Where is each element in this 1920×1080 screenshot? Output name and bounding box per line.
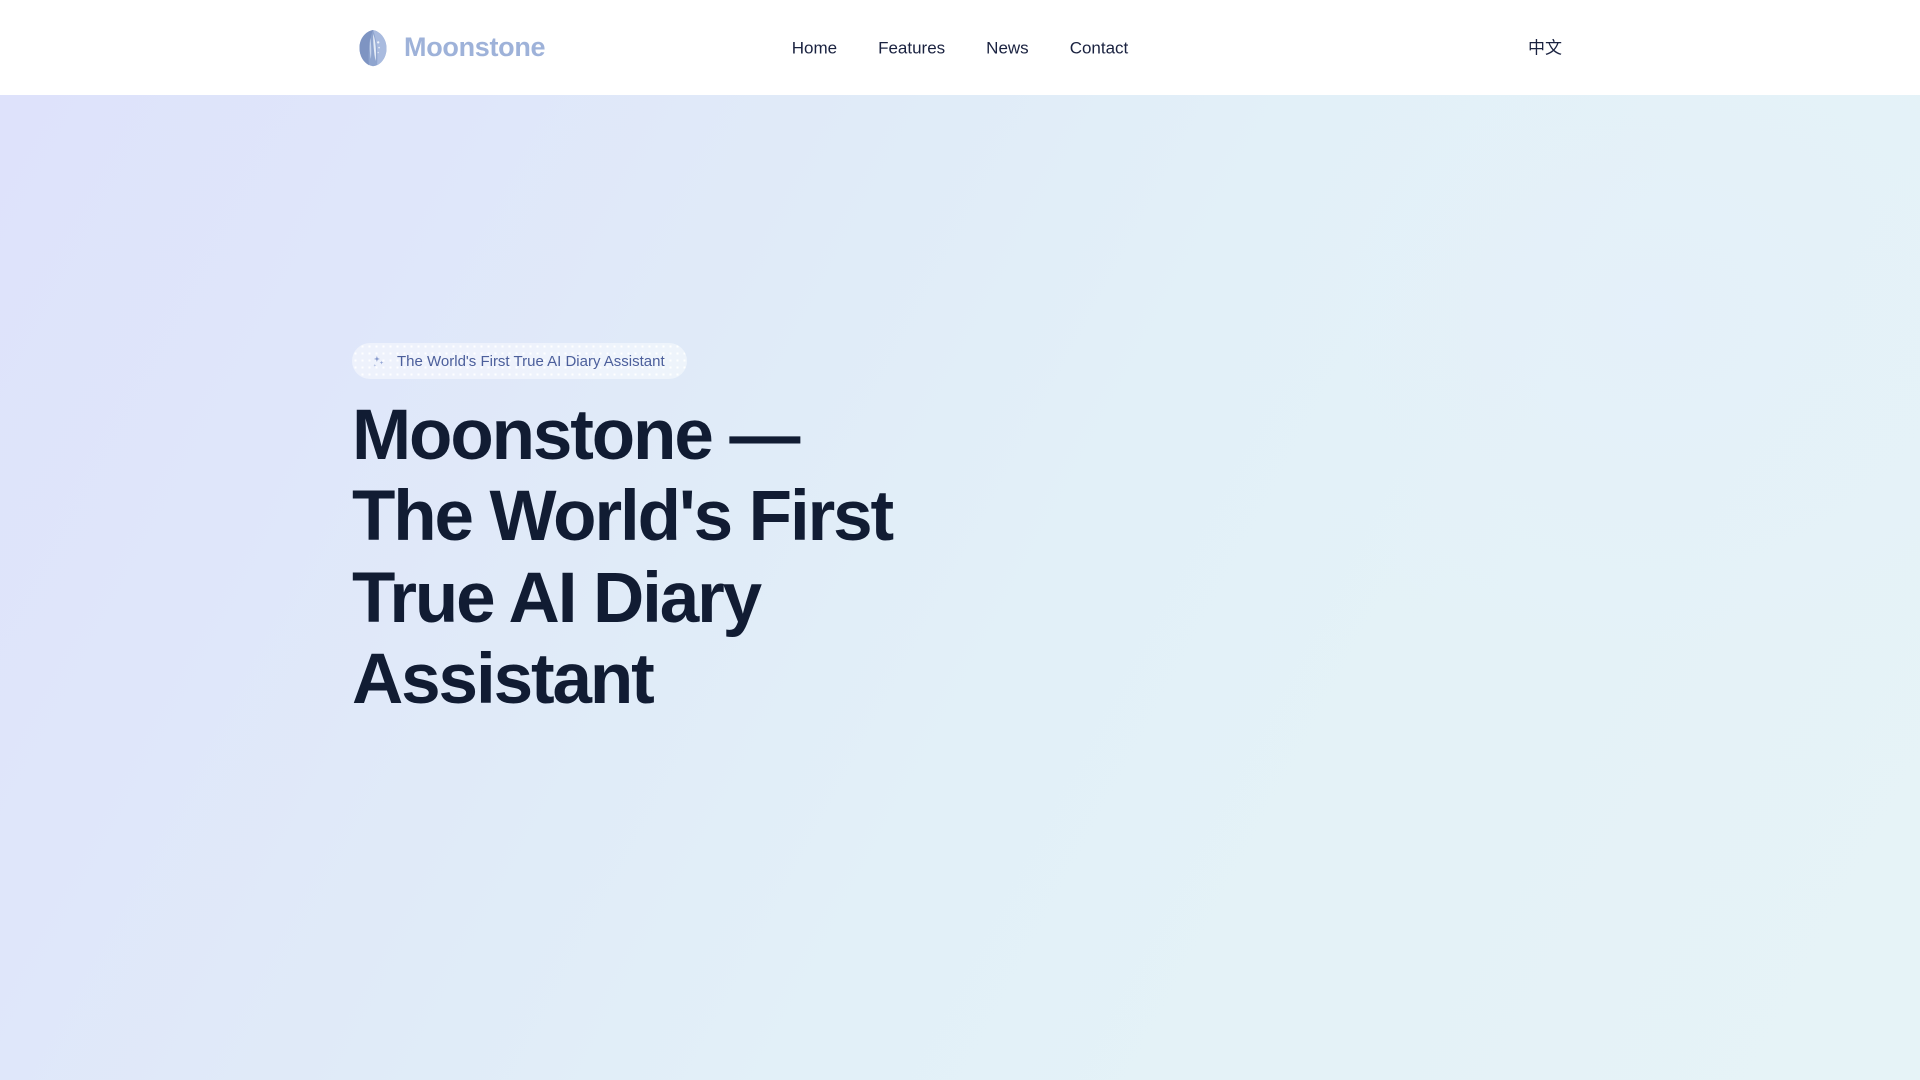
hero-section: The World's First True AI Diary Assistan…	[0, 95, 1920, 1080]
hero-badge-text: The World's First True AI Diary Assistan…	[397, 354, 665, 369]
hero-title: Moonstone — The World's First True AI Di…	[352, 395, 892, 720]
language-toggle-button[interactable]: 中文	[1528, 39, 1562, 56]
moonstone-gem-icon	[358, 29, 388, 67]
nav-item-home[interactable]: Home	[792, 39, 837, 56]
hero-badge: The World's First True AI Diary Assistan…	[352, 343, 687, 379]
nav-item-features[interactable]: Features	[878, 39, 945, 56]
nav-item-news[interactable]: News	[986, 39, 1029, 56]
main-navigation: Home Features News Contact	[792, 39, 1129, 56]
brand-logo-link[interactable]: Moonstone	[358, 29, 545, 67]
hero-content: The World's First True AI Diary Assistan…	[352, 95, 1552, 1080]
site-header: Moonstone Home Features News Contact 中文	[0, 0, 1920, 95]
sparkles-icon	[371, 354, 386, 369]
nav-item-contact[interactable]: Contact	[1070, 39, 1129, 56]
page-root: Moonstone Home Features News Contact 中文 …	[0, 0, 1920, 1080]
brand-name: Moonstone	[404, 34, 545, 61]
